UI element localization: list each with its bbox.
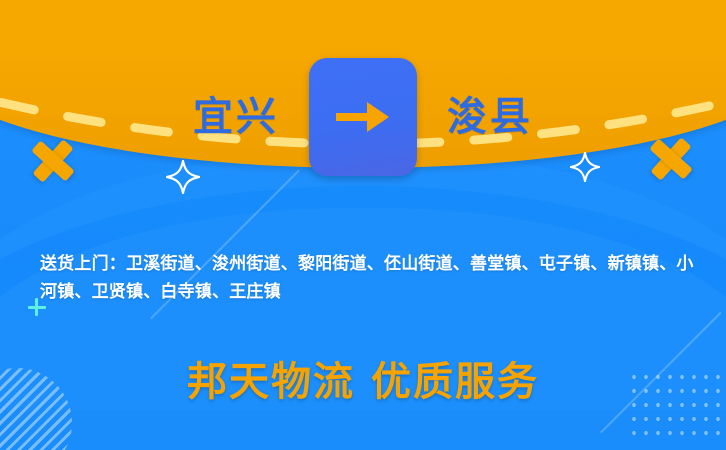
route-arrow-badge — [309, 58, 417, 176]
logistics-route-banner: 宜兴 浚县 送货上门：卫溪街道、浚州街道、黎阳街道、伾山街道、善堂镇、屯子镇、新… — [0, 0, 726, 450]
destination-city-label: 浚县 — [417, 97, 635, 137]
sparkle-star-icon — [570, 152, 600, 186]
origin-city-label: 宜兴 — [91, 97, 309, 137]
cross-icon — [648, 136, 694, 182]
sparkle-star-icon — [166, 160, 200, 198]
delivery-areas-text: 送货上门：卫溪街道、浚州街道、黎阳街道、伾山街道、善堂镇、屯子镇、新镇镇、小河镇… — [40, 250, 700, 306]
company-slogan: 邦天物流 优质服务 — [0, 358, 726, 406]
cross-icon — [30, 138, 76, 184]
route-header: 宜兴 浚县 — [0, 58, 726, 176]
arrow-right-icon — [334, 97, 392, 137]
